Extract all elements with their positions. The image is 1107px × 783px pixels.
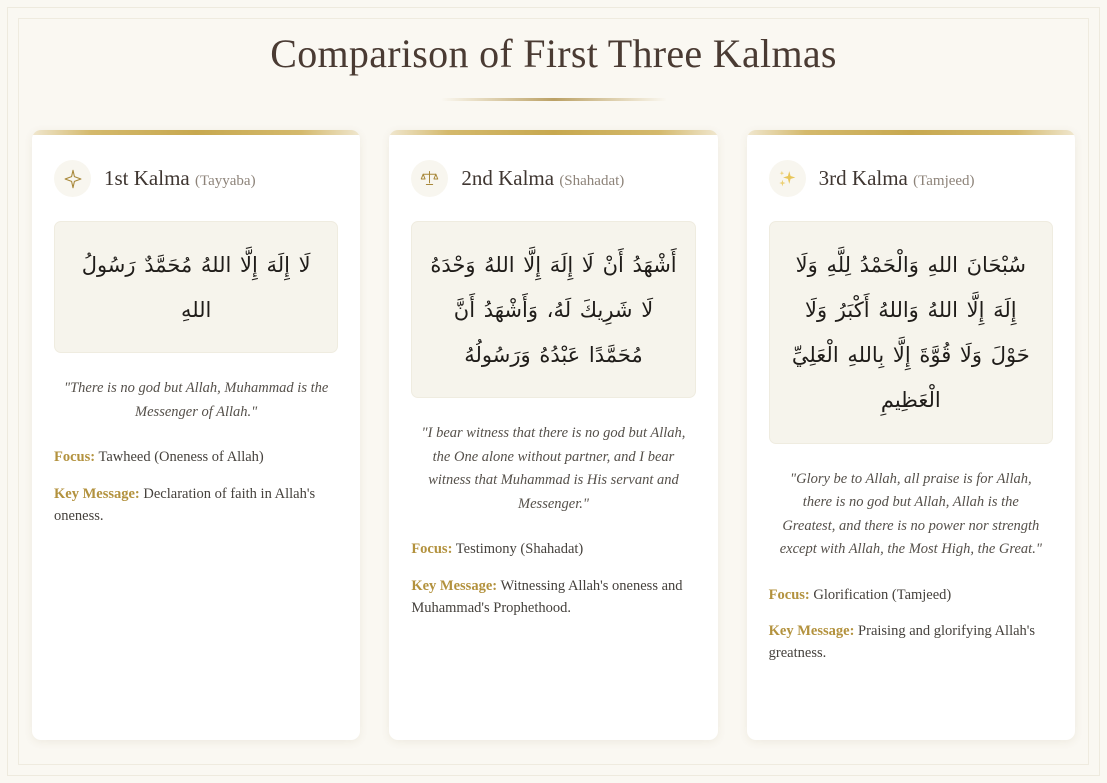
card-gold-topbar	[389, 130, 717, 135]
arabic-text-2: أَشْهَدُ أَنْ لَا إِلَهَ إِلَّا اللهُ وَ…	[428, 243, 678, 378]
page-root: Comparison of First Three Kalmas 1st Kal…	[0, 0, 1107, 783]
focus-label-2: Focus:	[411, 541, 452, 557]
page-title: Comparison of First Three Kalmas	[30, 31, 1077, 77]
card-title-text-3: 3rd Kalma	[819, 166, 908, 190]
key-message-label-2: Key Message:	[411, 578, 497, 594]
card-title-text-1: 1st Kalma	[104, 166, 190, 190]
card-title-2: 2nd Kalma (Shahadat)	[461, 166, 624, 191]
card-meta-2: Focus: Testimony (Shahadat) Key Message:…	[411, 538, 695, 619]
card-header-2: 2nd Kalma (Shahadat)	[411, 160, 695, 197]
translation-3: "Glory be to Allah, all praise is for Al…	[775, 468, 1047, 562]
kalma-cards-container: 1st Kalma (Tayyaba) لَا إِلَهَ إِلَّا ال…	[30, 130, 1077, 740]
key-message-label-1: Key Message:	[54, 486, 140, 502]
card-gold-topbar	[747, 130, 1075, 135]
card-subtitle-3: (Tamjeed)	[913, 173, 974, 189]
card-subtitle-1: (Tayyaba)	[195, 173, 256, 189]
key-message-row-2: Key Message: Witnessing Allah's oneness …	[411, 575, 695, 620]
kalma-card-2: 2nd Kalma (Shahadat) أَشْهَدُ أَنْ لَا إ…	[389, 130, 717, 740]
card-header-1: 1st Kalma (Tayyaba)	[54, 160, 338, 197]
arabic-text-1: لَا إِلَهَ إِلَّا اللهُ مُحَمَّدٌ رَسُول…	[71, 243, 321, 333]
key-message-row-3: Key Message: Praising and glorifying All…	[769, 620, 1053, 665]
focus-value-2: Testimony (Shahadat)	[456, 541, 583, 557]
card-header-3: 3rd Kalma (Tamjeed)	[769, 160, 1053, 197]
focus-value-3: Glorification (Tamjeed)	[813, 587, 951, 603]
arabic-text-box-2: أَشْهَدُ أَنْ لَا إِلَهَ إِلَّا اللهُ وَ…	[411, 221, 695, 398]
card-meta-1: Focus: Tawheed (Oneness of Allah) Key Me…	[54, 446, 338, 527]
card-gold-topbar	[32, 130, 360, 135]
arabic-text-box-3: سُبْحَانَ اللهِ وَالْحَمْدُ لِلَّهِ وَلَ…	[769, 221, 1053, 444]
four-pointed-star-icon	[54, 160, 91, 197]
arabic-text-3: سُبْحَانَ اللهِ وَالْحَمْدُ لِلَّهِ وَلَ…	[786, 243, 1036, 424]
focus-row-3: Focus: Glorification (Tamjeed)	[769, 584, 1053, 606]
card-title-3: 3rd Kalma (Tamjeed)	[819, 166, 975, 191]
card-meta-3: Focus: Glorification (Tamjeed) Key Messa…	[769, 584, 1053, 665]
arabic-text-box-1: لَا إِلَهَ إِلَّا اللهُ مُحَمَّدٌ رَسُول…	[54, 221, 338, 353]
sparkles-icon	[769, 160, 806, 197]
focus-label-1: Focus:	[54, 449, 95, 465]
key-message-row-1: Key Message: Declaration of faith in All…	[54, 483, 338, 528]
card-title-text-2: 2nd Kalma	[461, 166, 554, 190]
balance-scale-icon	[411, 160, 448, 197]
focus-row-1: Focus: Tawheed (Oneness of Allah)	[54, 446, 338, 468]
focus-label-3: Focus:	[769, 587, 810, 603]
page-header: Comparison of First Three Kalmas	[30, 0, 1077, 101]
key-message-label-3: Key Message:	[769, 623, 855, 639]
translation-1: "There is no god but Allah, Muhammad is …	[60, 377, 332, 424]
translation-2: "I bear witness that there is no god but…	[417, 422, 689, 516]
card-title-1: 1st Kalma (Tayyaba)	[104, 166, 256, 191]
title-divider	[441, 98, 667, 101]
focus-row-2: Focus: Testimony (Shahadat)	[411, 538, 695, 560]
kalma-card-3: 3rd Kalma (Tamjeed) سُبْحَانَ اللهِ وَال…	[747, 130, 1075, 740]
page-content: Comparison of First Three Kalmas 1st Kal…	[0, 0, 1107, 740]
kalma-card-1: 1st Kalma (Tayyaba) لَا إِلَهَ إِلَّا ال…	[32, 130, 360, 740]
card-subtitle-2: (Shahadat)	[559, 173, 624, 189]
focus-value-1: Tawheed (Oneness of Allah)	[98, 449, 263, 465]
